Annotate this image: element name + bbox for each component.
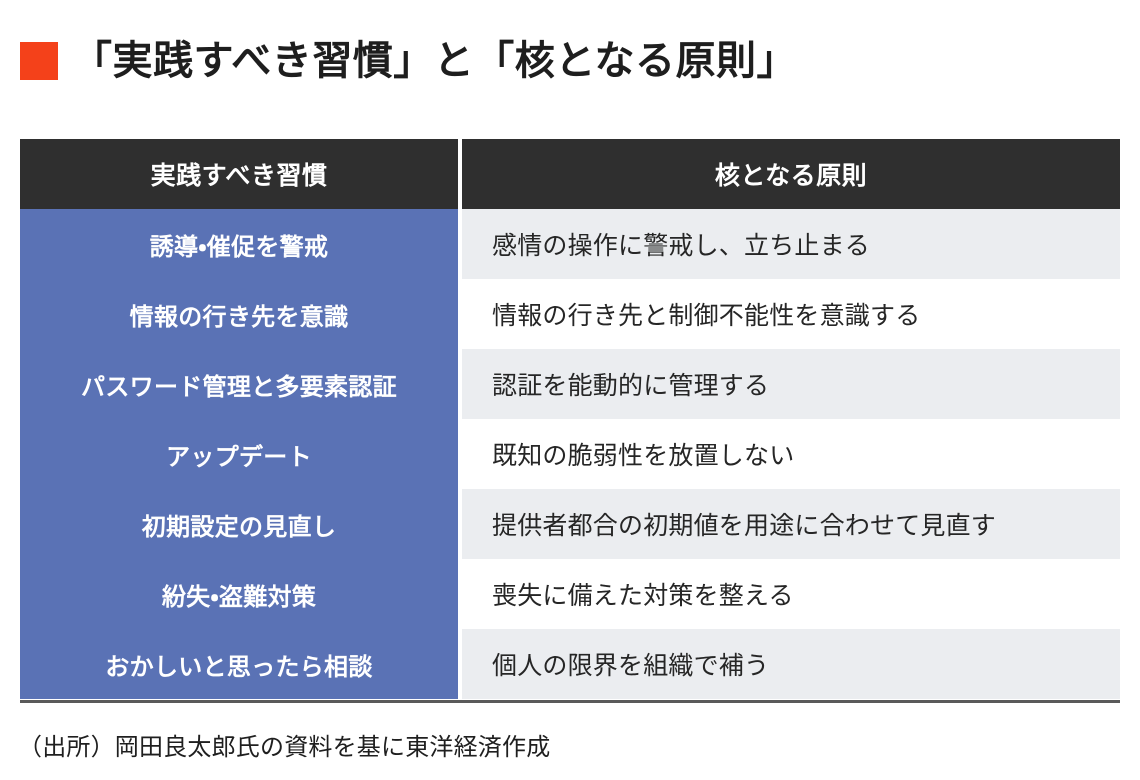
principle-cell: 提供者都合の初期値を用途に合わせて見直す <box>462 489 1120 559</box>
habit-cell: パスワード管理と多要素認証 <box>20 349 458 419</box>
page-title-text: 「実践すべき習慣」と「核となる原則」 <box>72 41 797 81</box>
table-row: 誘導・催促を警戒 感情の操作に警戒し、立ち止まる <box>20 209 1120 279</box>
habit-cell: 初期設定の見直し <box>20 489 458 559</box>
infographic-page: 「実践すべき習慣」と「核となる原則」 実践すべき習慣 核となる原則 誘導・催促を… <box>0 0 1140 780</box>
principle-cell: 認証を能動的に管理する <box>462 349 1120 419</box>
habit-cell: 誘導・催促を警戒 <box>20 209 458 279</box>
table-row: 情報の行き先を意識 情報の行き先と制御不能性を意識する <box>20 279 1120 349</box>
habit-cell: おかしいと思ったら相談 <box>20 629 458 699</box>
principle-cell: 喪失に備えた対策を整える <box>462 559 1120 629</box>
table-bottom-rule <box>20 700 1120 703</box>
table-row: パスワード管理と多要素認証 認証を能動的に管理する <box>20 349 1120 419</box>
square-marker-icon <box>20 42 58 80</box>
habit-cell: アップデート <box>20 419 458 489</box>
column-header-habit: 実践すべき習慣 <box>20 139 458 209</box>
table-row: おかしいと思ったら相談 個人の限界を組織で補う <box>20 629 1120 699</box>
table-row: 紛失・盗難対策 喪失に備えた対策を整える <box>20 559 1120 629</box>
principle-cell: 既知の脆弱性を放置しない <box>462 419 1120 489</box>
table-row: 初期設定の見直し 提供者都合の初期値を用途に合わせて見直す <box>20 489 1120 559</box>
principle-cell: 個人の限界を組織で補う <box>462 629 1120 699</box>
principle-cell: 情報の行き先と制御不能性を意識する <box>462 279 1120 349</box>
habit-cell: 紛失・盗難対策 <box>20 559 458 629</box>
column-header-principle: 核となる原則 <box>462 139 1120 209</box>
habit-cell: 情報の行き先を意識 <box>20 279 458 349</box>
page-title: 「実践すべき習慣」と「核となる原則」 <box>20 33 797 89</box>
table-header-row: 実践すべき習慣 核となる原則 <box>20 139 1120 209</box>
source-note: （出所）岡田良太郎氏の資料を基に東洋経済作成 <box>18 727 550 762</box>
habits-principles-table: 実践すべき習慣 核となる原則 誘導・催促を警戒 感情の操作に警戒し、立ち止まる … <box>20 139 1120 699</box>
principle-cell: 感情の操作に警戒し、立ち止まる <box>462 209 1120 279</box>
table-row: アップデート 既知の脆弱性を放置しない <box>20 419 1120 489</box>
